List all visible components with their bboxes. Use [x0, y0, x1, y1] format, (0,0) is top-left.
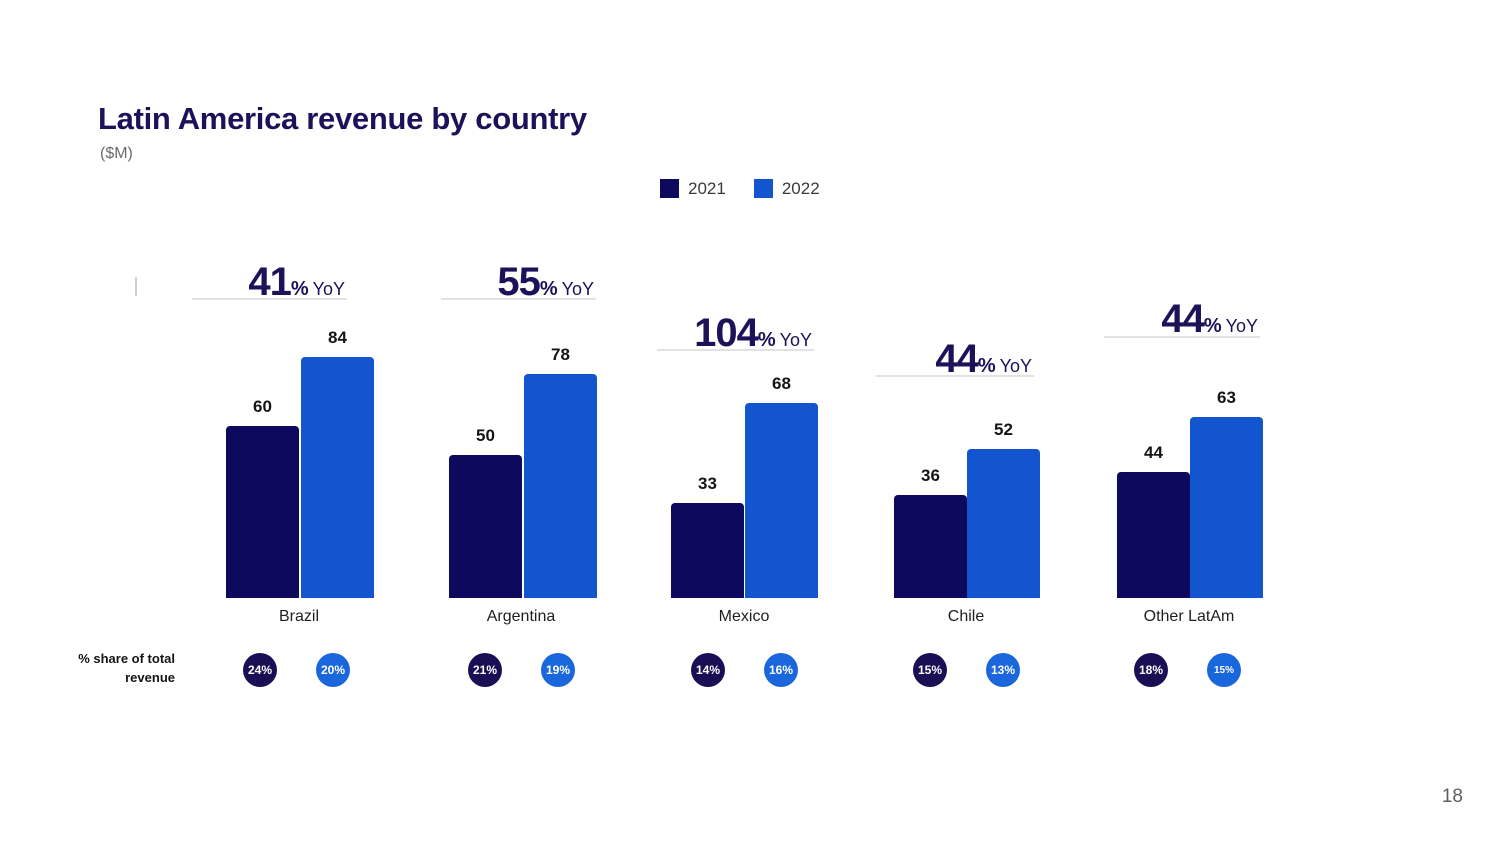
- category-label-other-latam: Other LatAm: [1079, 608, 1299, 626]
- share-dot-chile-2022: 13%: [986, 653, 1020, 687]
- bar-value-chile-2022: 52: [947, 420, 1060, 440]
- share-dot-brazil-2022: 20%: [316, 653, 350, 687]
- bar-mexico-2021[interactable]: [671, 503, 744, 598]
- share-dot-argentina-2022: 19%: [541, 653, 575, 687]
- share-dot-mexico-2022: 16%: [764, 653, 798, 687]
- yoy-callout-argentina: 55%YoY: [274, 262, 594, 302]
- category-label-argentina: Argentina: [411, 608, 631, 626]
- share-label-line-1: % share of total: [40, 650, 175, 669]
- bar-other-latam-2022[interactable]: [1190, 417, 1263, 598]
- bar-brazil-2022[interactable]: [301, 357, 374, 598]
- yoy-value-other-latam: 44: [1161, 297, 1204, 341]
- bar-value-other-latam-2022: 63: [1170, 388, 1283, 408]
- yoy-callout-other-latam: 44%YoY: [938, 299, 1258, 339]
- share-of-revenue-label: % share of total revenue: [40, 650, 175, 688]
- yoy-percent-sign-argentina: %: [540, 278, 558, 300]
- bar-argentina-2021[interactable]: [449, 455, 522, 599]
- bar-brazil-2021[interactable]: [226, 426, 299, 598]
- yoy-rule-other-latam: [1104, 336, 1260, 338]
- category-label-chile: Chile: [856, 608, 1076, 626]
- bar-chile-2022[interactable]: [967, 449, 1040, 598]
- share-dot-chile-2021: 15%: [913, 653, 947, 687]
- yoy-suffix-argentina: YoY: [562, 279, 594, 299]
- share-dot-argentina-2021: 21%: [468, 653, 502, 687]
- yoy-suffix-chile: YoY: [1000, 356, 1032, 376]
- category-label-brazil: Brazil: [189, 608, 409, 626]
- bar-mexico-2022[interactable]: [745, 403, 818, 598]
- bar-value-brazil-2022: 84: [281, 328, 394, 348]
- yoy-callout-chile: 44%YoY: [712, 339, 1032, 379]
- bar-chile-2021[interactable]: [894, 495, 967, 598]
- yoy-suffix-other-latam: YoY: [1226, 316, 1258, 336]
- bar-argentina-2022[interactable]: [524, 374, 597, 598]
- bar-chart-plot-area: 6084Brazil41%YoY24%20%5078Argentina55%Yo…: [0, 0, 1500, 844]
- yoy-rule-argentina: [441, 298, 596, 300]
- share-dot-brazil-2021: 24%: [243, 653, 277, 687]
- bar-other-latam-2021[interactable]: [1117, 472, 1190, 598]
- yoy-percent-sign-other-latam: %: [1204, 315, 1222, 337]
- share-label-line-2: revenue: [40, 669, 175, 688]
- yoy-rule-chile: [876, 375, 1034, 377]
- share-dot-mexico-2021: 14%: [691, 653, 725, 687]
- page-number: 18: [1442, 786, 1463, 808]
- yoy-percent-sign-chile: %: [978, 355, 996, 377]
- category-label-mexico: Mexico: [634, 608, 854, 626]
- share-dot-other-latam-2022: 15%: [1207, 653, 1241, 687]
- share-dot-other-latam-2021: 18%: [1134, 653, 1168, 687]
